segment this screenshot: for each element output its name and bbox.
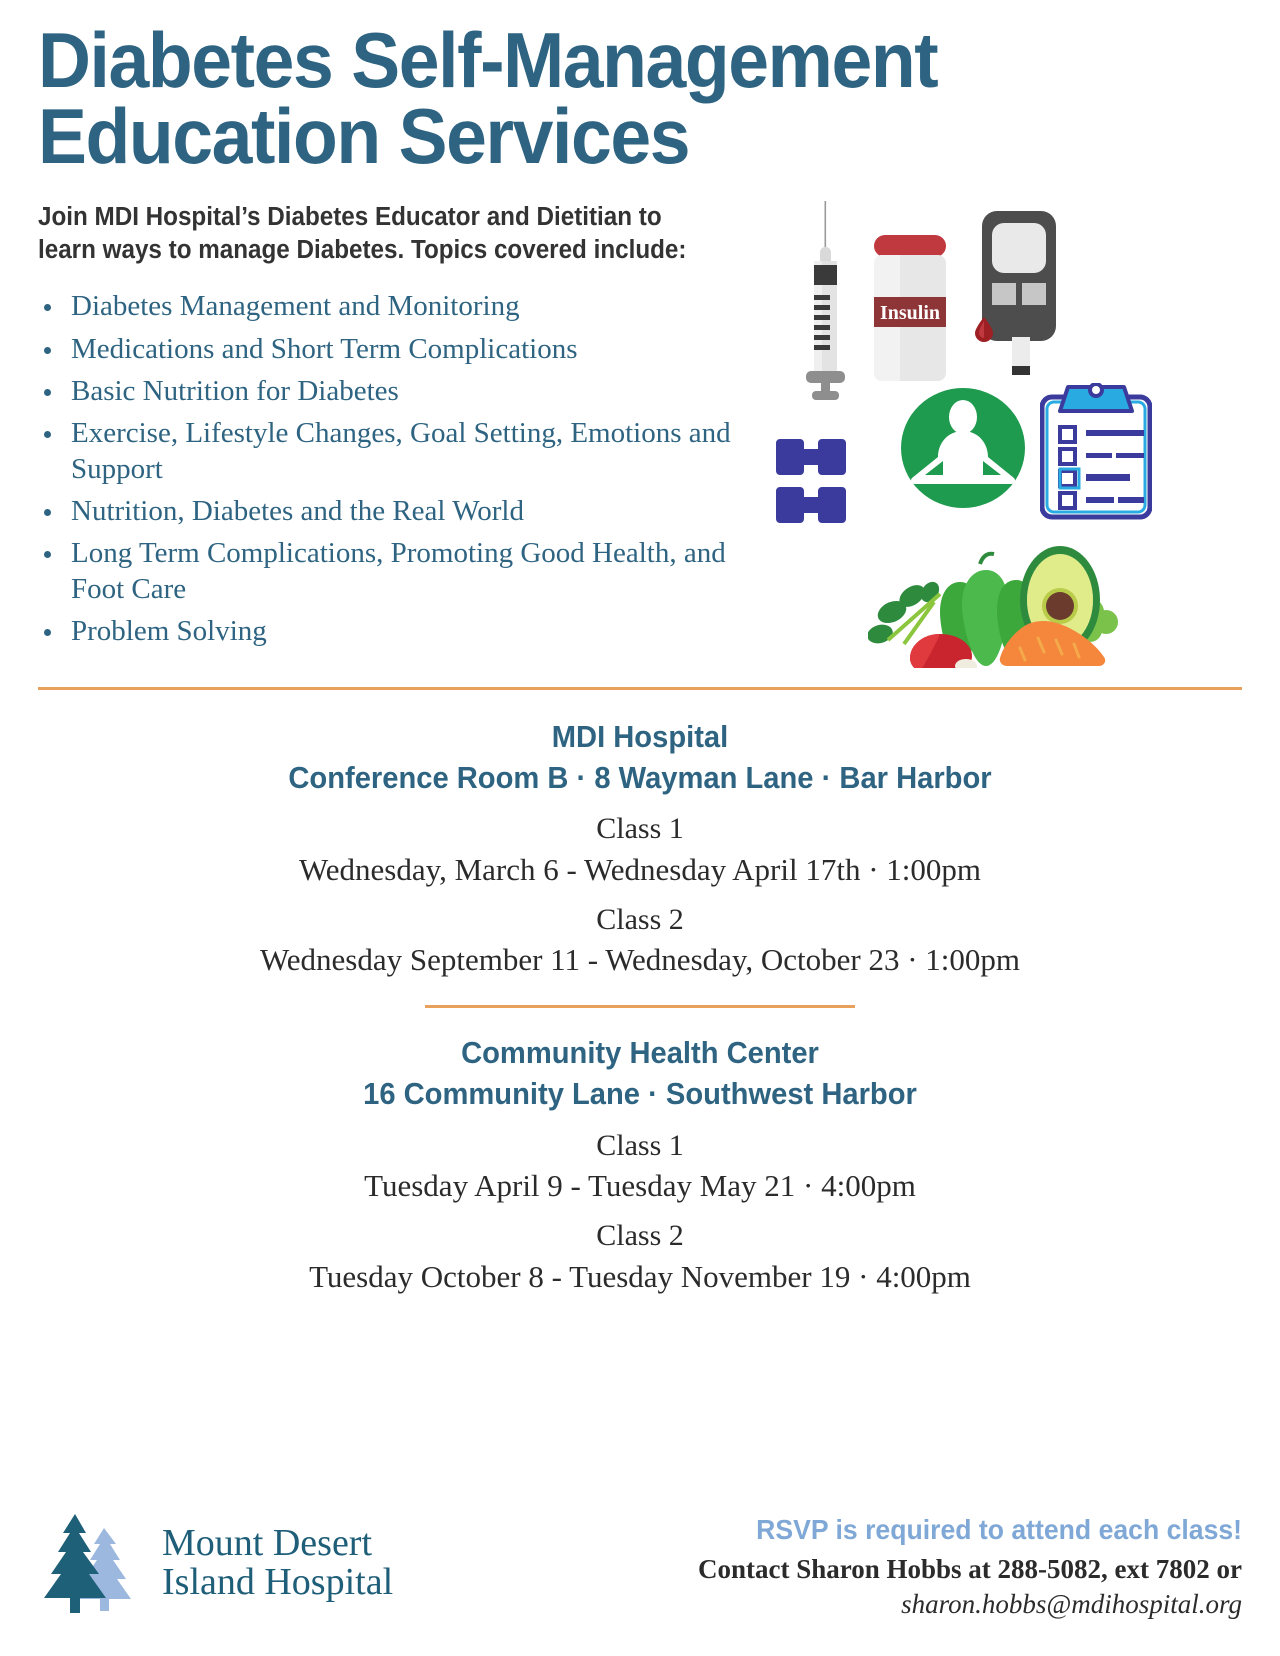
bullet-dot-icon — [44, 509, 51, 516]
contact-email[interactable]: sharon.hobbs@mdihospital.org — [698, 1589, 1242, 1620]
list-item: Nutrition, Diabetes and the Real World — [38, 494, 751, 529]
class-detail: Tuesday October 8 - Tuesday November 19 … — [38, 1258, 1242, 1296]
topics-list: Diabetes Management and Monitoring Medic… — [38, 289, 768, 649]
list-item: Long Term Complications, Promoting Good … — [38, 536, 751, 607]
topic-label: Medications and Short Term Complications — [71, 333, 577, 365]
list-item: Problem Solving — [38, 614, 751, 649]
footer: Mount Desert Island Hospital RSVP is req… — [38, 1512, 1242, 1620]
bullet-dot-icon — [44, 389, 51, 396]
flyer-page: Diabetes Self-Management Education Servi… — [0, 0, 1280, 1656]
bullet-dot-icon — [44, 431, 51, 438]
topic-label: Exercise, Lifestyle Changes, Goal Settin… — [71, 417, 731, 484]
contact-block: RSVP is required to attend each class! C… — [698, 1514, 1242, 1620]
location-address: 16 Community Lane · Southwest Harbor — [74, 1073, 1206, 1114]
location-block-community-health-center: Community Health Center 16 Community Lan… — [38, 1032, 1242, 1295]
pine-trees-icon — [38, 1512, 150, 1614]
topic-label: Problem Solving — [71, 615, 267, 647]
class-label: Class 1 — [38, 1128, 1242, 1165]
bullet-dot-icon — [44, 347, 51, 354]
topic-label: Nutrition, Diabetes and the Real World — [71, 495, 524, 527]
intro-column: Join MDI Hospital’s Diabetes Educator an… — [38, 201, 768, 657]
bullet-dot-icon — [44, 551, 51, 558]
bullet-dot-icon — [44, 304, 51, 311]
class-detail: Wednesday, March 6 - Wednesday April 17t… — [38, 851, 1242, 889]
class-label: Class 1 — [38, 811, 1242, 848]
yoga-meditation-icon — [898, 383, 1028, 513]
topic-label: Diabetes Management and Monitoring — [71, 290, 520, 322]
hospital-logo: Mount Desert Island Hospital — [38, 1512, 393, 1614]
divider-full — [38, 687, 1242, 690]
glucose-meter-icon — [968, 211, 1066, 401]
intro-and-illustration: Join MDI Hospital’s Diabetes Educator an… — [38, 201, 1242, 663]
list-item: Medications and Short Term Complications — [38, 332, 751, 367]
logo-line-1: Mount Desert — [162, 1522, 372, 1564]
location-name: Community Health Center — [74, 1032, 1206, 1073]
class-label: Class 2 — [38, 1218, 1242, 1255]
illustration-cluster: Insulin — [768, 193, 1242, 663]
topic-label: Basic Nutrition for Diabetes — [71, 375, 399, 407]
bullet-dot-icon — [44, 629, 51, 636]
topic-label: Long Term Complications, Promoting Good … — [71, 537, 726, 604]
page-title: Diabetes Self-Management Education Servi… — [38, 0, 1128, 175]
location-name: MDI Hospital — [74, 716, 1206, 757]
class-detail: Wednesday September 11 - Wednesday, Octo… — [38, 941, 1242, 979]
location-address: Conference Room B · 8 Wayman Lane · Bar … — [74, 757, 1206, 798]
contact-phone-line: Contact Sharon Hobbs at 288-5082, ext 78… — [698, 1554, 1242, 1585]
vegetables-icon — [868, 508, 1118, 668]
class-label: Class 2 — [38, 902, 1242, 939]
list-item: Exercise, Lifestyle Changes, Goal Settin… — [38, 416, 751, 487]
insulin-vial-icon: Insulin — [866, 235, 954, 385]
location-block-mdi-hospital: MDI Hospital Conference Room B · 8 Wayma… — [38, 716, 1242, 979]
list-item: Basic Nutrition for Diabetes — [38, 374, 751, 409]
class-detail: Tuesday April 9 - Tuesday May 21 · 4:00p… — [38, 1167, 1242, 1205]
clipboard-checklist-icon — [1040, 383, 1152, 523]
rsvp-notice: RSVP is required to attend each class! — [725, 1514, 1242, 1546]
divider-short — [425, 1005, 855, 1008]
logo-line-2: Island Hospital — [162, 1563, 393, 1602]
logo-wordmark: Mount Desert Island Hospital — [162, 1524, 393, 1602]
list-item: Diabetes Management and Monitoring — [38, 289, 751, 324]
dumbbells-icon — [776, 433, 876, 533]
intro-paragraph: Join MDI Hospital’s Diabetes Educator an… — [38, 201, 703, 267]
syringe-icon — [796, 201, 856, 401]
vial-label: Insulin — [880, 302, 940, 324]
